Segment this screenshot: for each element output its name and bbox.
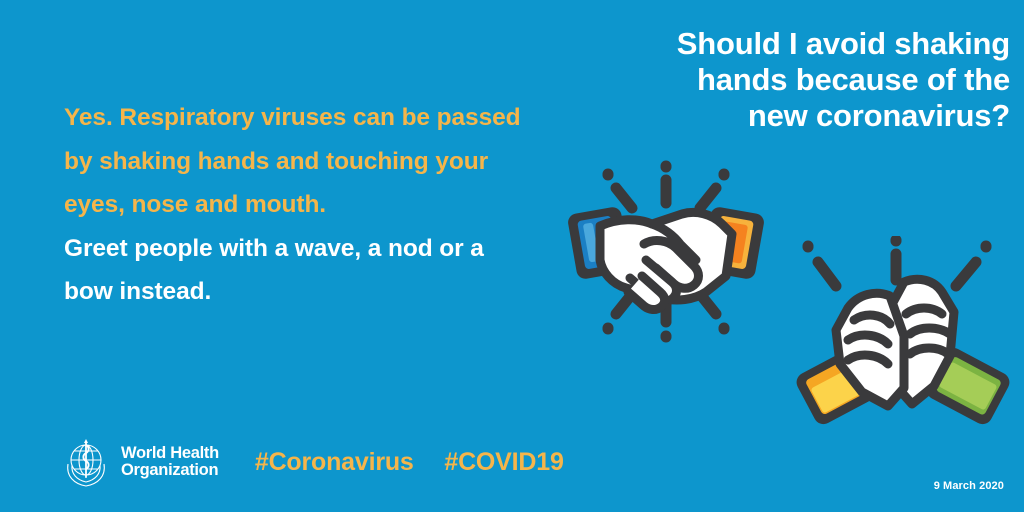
poster-canvas: Should I avoid shaking hands because of …: [0, 0, 1024, 512]
who-wordmark-line-1: World Health: [121, 445, 219, 462]
answer-text: Yes. Respiratory viruses can be passed b…: [64, 96, 534, 227]
headline-line-3: new coronavirus?: [570, 98, 1010, 134]
clasped-hands-icon: [792, 236, 1017, 431]
who-wordmark: World Health Organization: [121, 445, 219, 479]
clasp-rays: [808, 240, 986, 286]
page-title: Should I avoid shaking hands because of …: [570, 26, 1010, 134]
advice-text: Greet people with a wave, a nod or a bow…: [64, 227, 534, 314]
handshake-icon: [556, 152, 776, 347]
footer: World Health Organization #Coronavirus #…: [58, 434, 564, 490]
headline-line-2: hands because of the: [570, 62, 1010, 98]
hashtags: #Coronavirus #COVID19: [255, 448, 564, 477]
handshake-rays-top: [608, 166, 724, 208]
hashtag-covid19: #COVID19: [444, 448, 563, 476]
hashtag-coronavirus: #Coronavirus: [255, 448, 414, 476]
clasp-hands: [836, 279, 954, 406]
date-stamp: 9 March 2020: [934, 480, 1004, 492]
body-copy: Yes. Respiratory viruses can be passed b…: [64, 96, 534, 314]
headline-line-1: Should I avoid shaking: [570, 26, 1010, 62]
who-wordmark-line-2: Organization: [121, 462, 219, 479]
who-logo: World Health Organization: [58, 434, 219, 490]
who-emblem-icon: [58, 434, 114, 490]
handshake-hands: [600, 212, 732, 309]
